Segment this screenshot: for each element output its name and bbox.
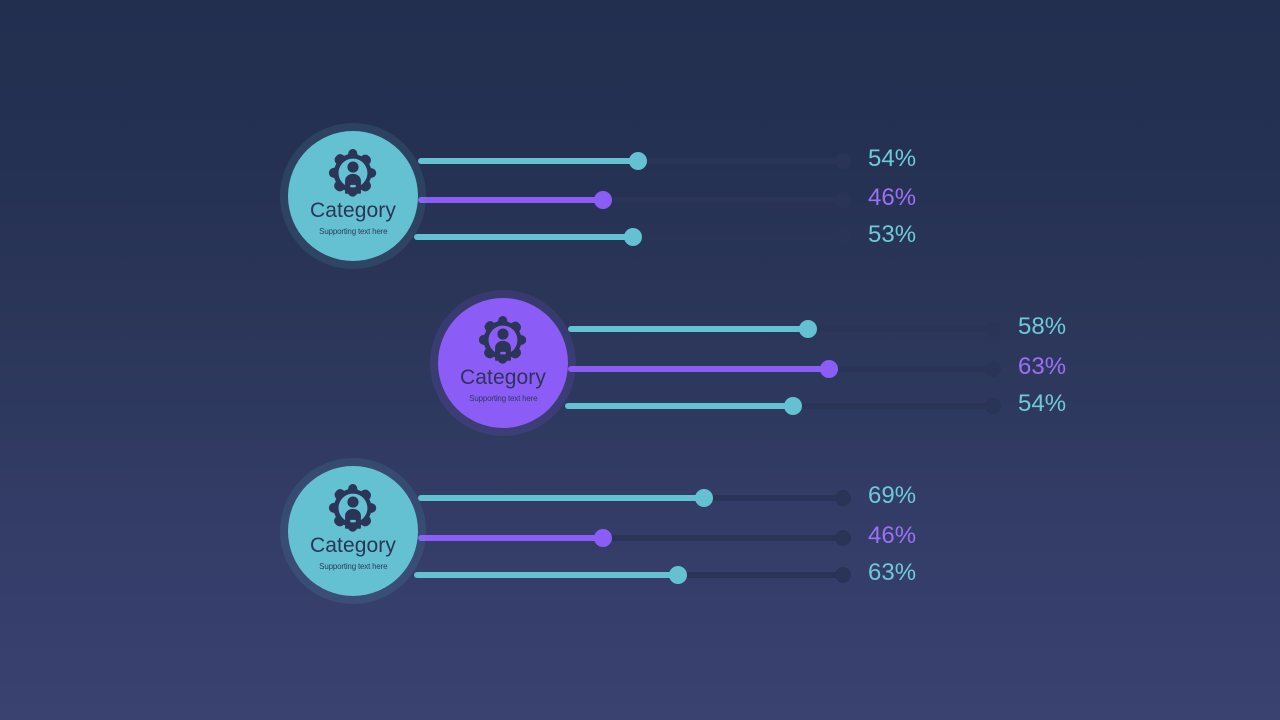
bar-track-end-dot (835, 229, 851, 245)
bar-track-end-dot (835, 490, 851, 506)
bar-value-dot[interactable] (629, 152, 647, 170)
badge-subtitle: Supporting text here (469, 393, 537, 403)
bar-track-end-dot (985, 361, 1001, 377)
bar-value-dot[interactable] (820, 360, 838, 378)
bar-fill (418, 495, 704, 501)
bar-fill (568, 366, 830, 372)
bar-row[interactable]: 63% (414, 564, 843, 586)
bar-track-end-dot (835, 153, 851, 169)
bar-value-dot[interactable] (799, 320, 817, 338)
bar-percent-label: 58% (1018, 315, 1066, 339)
bar-fill (418, 535, 604, 541)
bar-row[interactable]: 63% (568, 358, 993, 380)
bar-fill (414, 572, 678, 578)
gear-person-icon (326, 146, 380, 200)
bar-percent-label: 63% (868, 561, 916, 585)
category-badge-2[interactable]: Category Supporting text here (438, 298, 568, 428)
category-badge-1[interactable]: Category Supporting text here (288, 131, 418, 261)
bar-row[interactable]: 53% (414, 226, 843, 248)
badge-title: Category (460, 367, 546, 388)
gear-person-icon (476, 313, 530, 367)
bar-track-end-dot (835, 530, 851, 546)
bar-value-dot[interactable] (695, 489, 713, 507)
badge-title: Category (310, 535, 396, 556)
bar-percent-label: 54% (1018, 392, 1066, 416)
bar-value-dot[interactable] (669, 566, 687, 584)
bar-value-dot[interactable] (594, 191, 612, 209)
bar-track-end-dot (985, 321, 1001, 337)
bar-track-end-dot (835, 192, 851, 208)
bar-percent-label: 46% (868, 186, 916, 210)
bar-fill (418, 158, 638, 164)
bar-percent-label: 54% (868, 147, 916, 171)
bar-track-end-dot (835, 567, 851, 583)
bar-fill (568, 326, 808, 332)
bar-percent-label: 69% (868, 484, 916, 508)
bar-fill (565, 403, 794, 409)
bar-value-dot[interactable] (784, 397, 802, 415)
category-badge-3[interactable]: Category Supporting text here (288, 466, 418, 596)
bar-fill (418, 197, 605, 203)
bar-row[interactable]: 46% (418, 189, 843, 211)
gear-person-icon (326, 481, 380, 535)
infographic-canvas: Category Supporting text here 54% 46% 53… (0, 0, 1280, 720)
bar-value-dot[interactable] (594, 529, 612, 547)
bar-track-end-dot (985, 398, 1001, 414)
bar-percent-label: 63% (1018, 355, 1066, 379)
badge-subtitle: Supporting text here (319, 561, 387, 571)
bar-value-dot[interactable] (624, 228, 642, 246)
badge-subtitle: Supporting text here (319, 226, 387, 236)
bar-fill (414, 234, 633, 240)
bar-percent-label: 53% (868, 223, 916, 247)
bar-row[interactable]: 46% (418, 527, 843, 549)
bar-row[interactable]: 69% (418, 487, 843, 509)
bar-row[interactable]: 54% (418, 150, 843, 172)
bar-percent-label: 46% (868, 524, 916, 548)
bar-row[interactable]: 54% (565, 395, 993, 417)
badge-title: Category (310, 200, 396, 221)
bar-row[interactable]: 58% (568, 318, 993, 340)
